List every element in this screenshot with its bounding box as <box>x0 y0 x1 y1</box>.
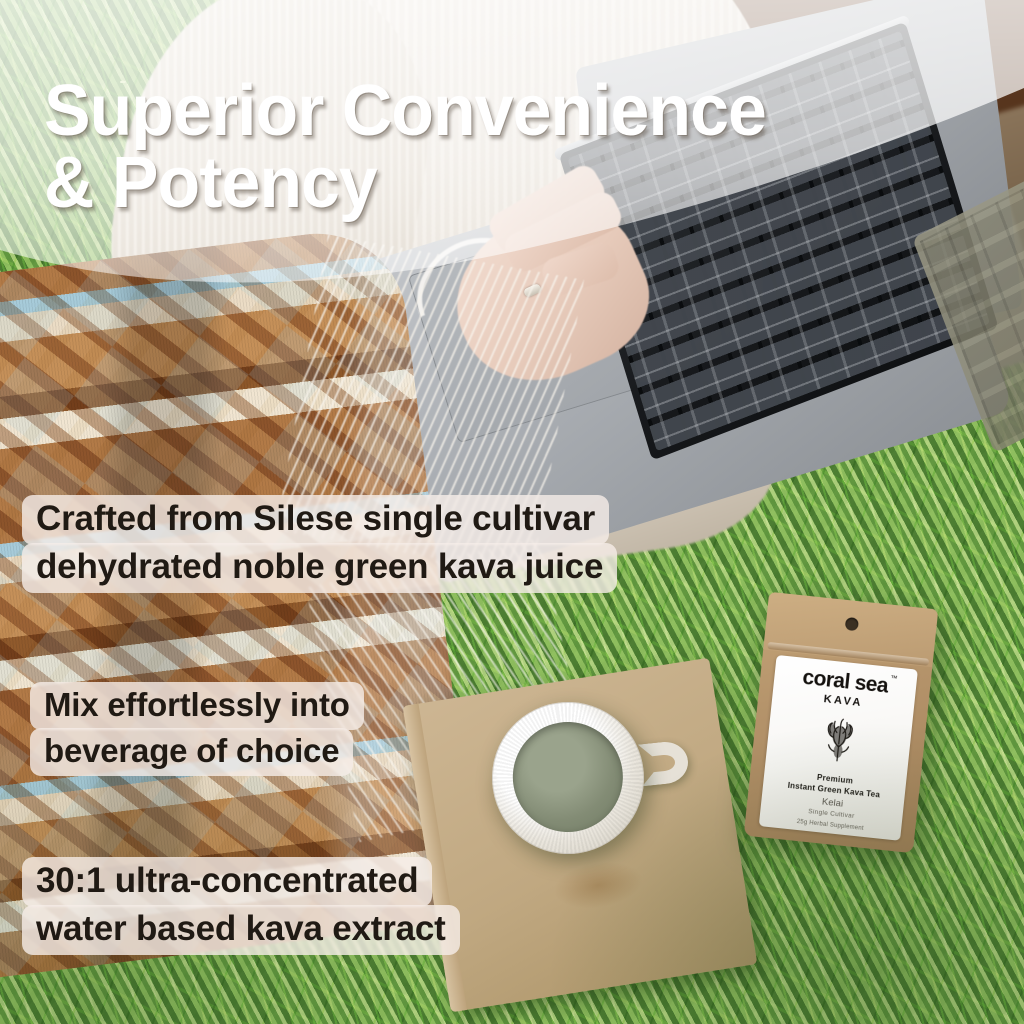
feature-line: Crafted from Silese single cultivar <box>22 495 609 545</box>
feature-line: dehydrated noble green kava juice <box>22 543 617 593</box>
feature-line: beverage of choice <box>30 728 353 776</box>
feature-line: Mix effortlessly into <box>30 682 364 730</box>
feature-callout-crafted: Crafted from Silese single cultivar dehy… <box>22 495 617 593</box>
feature-line: 30:1 ultra-concentrated <box>22 857 432 907</box>
marketing-image: coral sea™ KAVA <box>0 0 1024 1024</box>
feature-callout-concentration: 30:1 ultra-concentrated water based kava… <box>22 857 460 955</box>
page-title: Superior Convenience & Potency <box>44 76 936 219</box>
feature-line: water based kava extract <box>22 905 460 955</box>
feature-callout-mix: Mix effortlessly into beverage of choice <box>30 682 364 776</box>
